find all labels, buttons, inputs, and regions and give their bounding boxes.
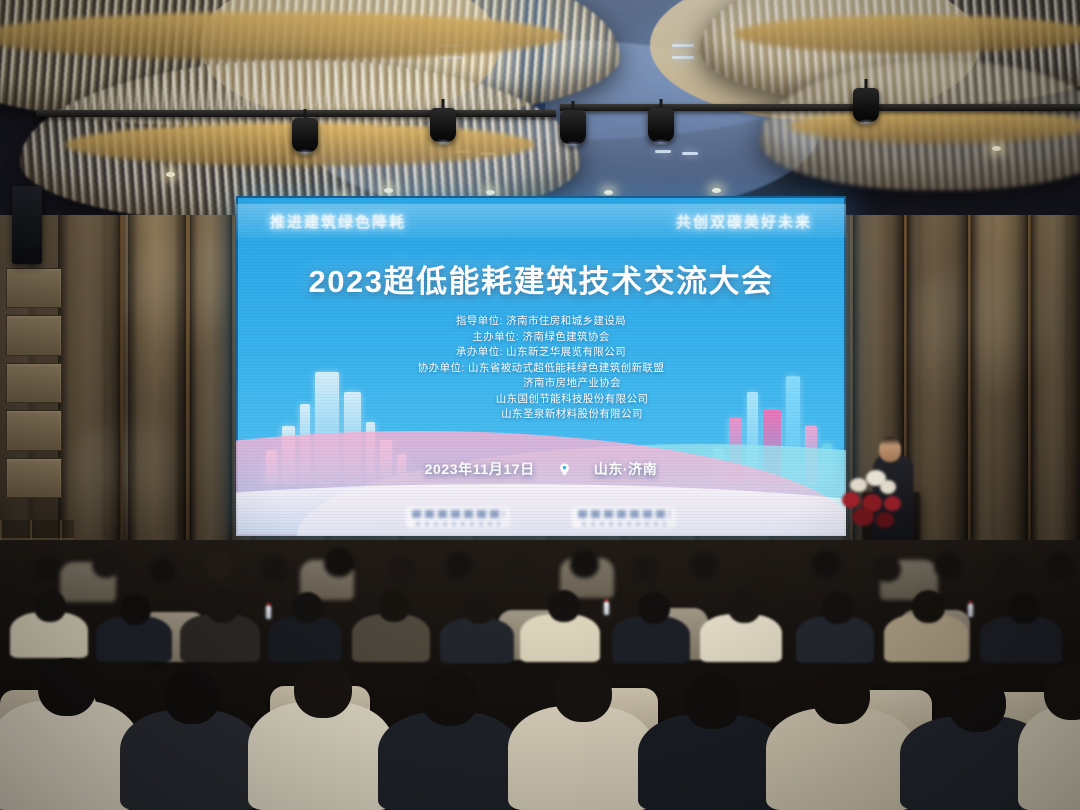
organizer-value: 济南绿色建筑协会 <box>523 331 610 343</box>
audience-head <box>812 550 841 578</box>
audience-head <box>206 552 233 579</box>
audience-head <box>912 590 945 623</box>
ceiling-downlight <box>604 190 613 195</box>
audience-head <box>422 670 478 726</box>
ceiling-light-strip <box>672 44 694 47</box>
lighting-truss <box>560 104 1080 111</box>
audience-head <box>1008 592 1040 624</box>
banner-left-text: 推进建筑绿色降耗 <box>270 211 406 232</box>
wall-panel <box>6 363 62 403</box>
organizer-value: 山东国创节能科技股份有限公司 <box>496 393 649 405</box>
moving-head-light <box>853 88 879 122</box>
audience-head <box>38 658 96 716</box>
flower-arrangement <box>840 470 910 532</box>
audience-head <box>388 556 415 582</box>
flower-petal <box>884 496 901 511</box>
audience-shoulders <box>1018 706 1080 810</box>
audience-shoulders <box>440 618 514 663</box>
organizer-label: 承办单位: <box>456 346 503 358</box>
ceiling-downlight <box>992 146 1001 151</box>
audience-head <box>570 550 599 578</box>
audience-head <box>378 590 410 622</box>
audience-head <box>464 594 494 624</box>
sponsor-logo-strip <box>236 507 846 528</box>
audience-head <box>728 590 761 623</box>
event-location: 山东·济南 <box>594 459 658 479</box>
ceiling <box>0 0 1080 215</box>
audience-head <box>690 552 718 579</box>
audience-head <box>750 556 777 582</box>
lighting-truss <box>36 110 556 117</box>
organizer-label: 协办单位: <box>418 362 465 374</box>
banner-right-text: 共创双碳美好未来 <box>676 211 812 232</box>
wall-panel <box>6 268 62 308</box>
audience-head <box>934 552 962 579</box>
slide-meta-row: 2023年11月17日 山东·济南 <box>236 459 846 479</box>
ceiling-downlight <box>486 190 495 195</box>
water-bottle <box>604 602 609 615</box>
organizer-value: 山东圣泉新材料股份有限公司 <box>501 408 643 420</box>
audience-head <box>446 552 472 578</box>
audience-area <box>0 540 1080 810</box>
flower-petal <box>876 512 894 528</box>
audience-head <box>294 660 352 718</box>
moving-head-light <box>560 110 586 144</box>
ceiling-downlight <box>712 188 721 193</box>
wall-panel <box>6 458 62 498</box>
audience-head <box>632 556 658 582</box>
slide-title: 2023超低能耗建筑技术交流大会 <box>236 256 846 301</box>
audience-head <box>554 664 612 722</box>
moving-head-light <box>648 108 674 142</box>
audience-shoulders <box>0 700 140 810</box>
audience-head <box>164 668 220 724</box>
slide-banner-row: 推进建筑绿色降耗 共创双碳美好未来 <box>236 204 846 238</box>
audience-head <box>262 556 288 582</box>
audience-head <box>996 556 1024 583</box>
audience-head <box>684 672 741 729</box>
flower-petal <box>852 508 874 526</box>
audience-shoulders <box>248 702 394 810</box>
wall-panel-group <box>6 268 62 498</box>
organizer-value: 山东新芝华展览有限公司 <box>506 346 626 358</box>
audience-head <box>948 674 1006 732</box>
water-bottle <box>266 606 271 619</box>
audience-head <box>324 548 354 577</box>
organizer-line: 主办单位: 济南绿色建筑协会 <box>236 330 846 346</box>
organizer-line: 承办单位: 山东新芝华展览有限公司 <box>236 345 846 361</box>
location-pin-icon <box>557 462 572 477</box>
ceiling-downlight <box>166 172 175 177</box>
organizer-value: 济南市住房和城乡建设局 <box>506 315 626 327</box>
ceiling-light-strip <box>682 152 698 155</box>
wall-panel <box>6 410 62 450</box>
wall-panel <box>6 315 62 355</box>
event-date: 2023年11月17日 <box>425 459 535 479</box>
audience-head <box>92 550 120 578</box>
audience-shoulders <box>120 710 260 810</box>
audience-head <box>150 558 175 583</box>
audience-head <box>812 666 870 724</box>
audience-head <box>206 590 239 623</box>
organizer-label: 指导单位: <box>456 315 503 327</box>
organizer-label: 主办单位: <box>472 331 519 343</box>
organizer-line: 指导单位: 济南市住房和城乡建设局 <box>236 314 846 330</box>
line-array-speaker <box>12 186 42 264</box>
sponsor-logo-left <box>406 507 510 528</box>
water-bottle <box>968 604 973 617</box>
flower-petal <box>850 478 867 492</box>
audience-head <box>34 556 60 582</box>
organizer-value: 山东省被动式超低能耗绿色建筑创新联盟 <box>468 362 664 374</box>
organizer-value: 济南市房地产业协会 <box>523 377 621 389</box>
flower-petal <box>842 492 860 508</box>
audience-head <box>1046 552 1074 579</box>
flower-petal <box>880 480 896 494</box>
moving-head-light <box>292 118 318 152</box>
speaker-head <box>879 437 901 462</box>
audience-head <box>874 556 901 582</box>
ceiling-light-strip <box>655 150 671 153</box>
audience-head <box>638 592 670 624</box>
ceiling-light-strip <box>672 56 694 59</box>
conference-hall-photo: 推进建筑绿色降耗 共创双碳美好未来 2023超低能耗建筑技术交流大会 指导单位:… <box>0 0 1080 810</box>
moving-head-light <box>430 108 456 142</box>
audience-head <box>292 592 323 623</box>
led-presentation-screen: 推进建筑绿色降耗 共创双碳美好未来 2023超低能耗建筑技术交流大会 指导单位:… <box>236 196 846 536</box>
sponsor-logo-right <box>572 507 676 528</box>
audience-head <box>822 592 854 624</box>
audience-head <box>548 590 580 622</box>
audience-shoulders <box>378 712 520 810</box>
ceiling-downlight <box>384 188 393 193</box>
audience-head <box>120 594 151 625</box>
audience-head <box>34 590 66 622</box>
audience-head <box>506 556 534 583</box>
